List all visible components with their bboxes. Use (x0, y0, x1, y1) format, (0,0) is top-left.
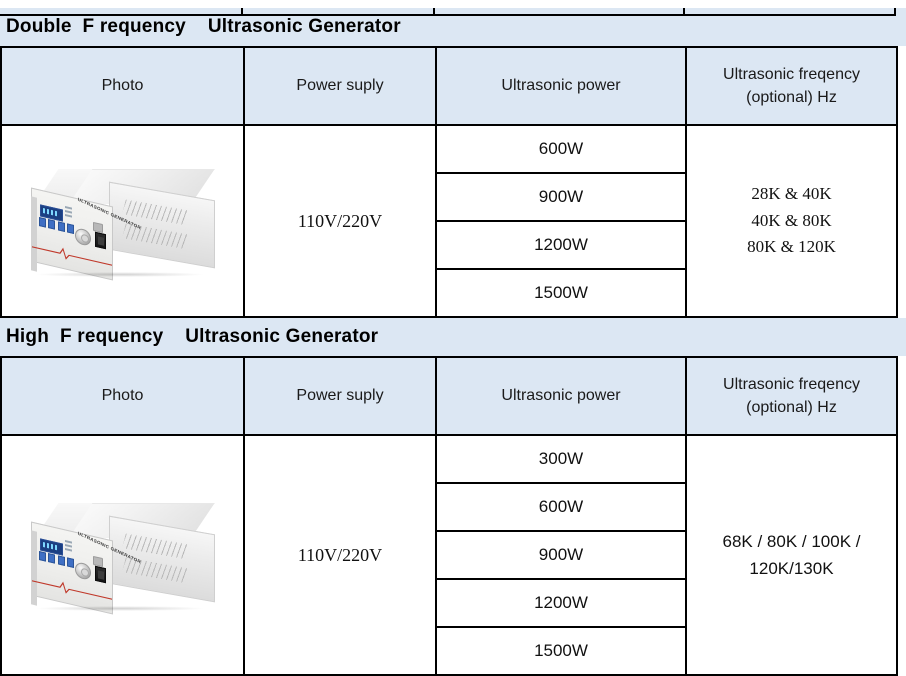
power-supply-value: 110V/220V (244, 435, 436, 675)
spec-table-double-frequency: Photo Power suply Ultrasonic power Ultra… (0, 46, 898, 318)
ultrasonic-power-value: 300W (436, 435, 686, 483)
header-power-supply: Power suply (244, 47, 436, 125)
device-side-face (109, 182, 215, 269)
device-side-face (109, 516, 215, 603)
frequency-line: 40K & 80K (687, 208, 896, 234)
device-front-bevel (31, 530, 37, 605)
ultrasonic-power-value: 600W (436, 125, 686, 173)
device-shadow (35, 272, 205, 277)
vent-grille-icon (122, 558, 188, 583)
header-ultrasonic-frequency: Ultrasonic freqency (optional) Hz (686, 47, 897, 125)
header-power-supply: Power suply (244, 357, 436, 435)
header-ultrasonic-frequency-line1: Ultrasonic freqency (723, 376, 860, 393)
vent-grille-icon (122, 224, 188, 249)
power-switch-icon (95, 566, 106, 584)
ultrasonic-power-value: 1200W (436, 221, 686, 269)
indicator-lamps-icon (65, 206, 74, 218)
product-photo-high-frequency: ULTRASONIC GENERATOR (2, 501, 243, 609)
table-row: ULTRASONIC GENERATOR (1, 435, 897, 483)
column-divider (894, 8, 896, 14)
column-divider (241, 8, 243, 14)
spec-table-high-frequency: Photo Power suply Ultrasonic power Ultra… (0, 356, 898, 676)
ultrasonic-power-value: 1200W (436, 579, 686, 627)
header-photo: Photo (1, 357, 244, 435)
device-front-bevel (31, 196, 37, 271)
header-ultrasonic-frequency-line2: (optional) Hz (746, 89, 837, 106)
device-shadow (35, 606, 205, 611)
frequency-line: 120K/130K (687, 555, 896, 582)
column-divider (433, 8, 435, 14)
header-ultrasonic-power: Ultrasonic power (436, 47, 686, 125)
product-photo-cell: ULTRASONIC GENERATOR (1, 435, 244, 675)
product-photo-cell: ULTRASONIC GENERATOR (1, 125, 244, 317)
header-ultrasonic-frequency-line2: (optional) Hz (746, 399, 837, 416)
ultrasonic-power-value: 600W (436, 483, 686, 531)
header-ultrasonic-frequency: Ultrasonic freqency (optional) Hz (686, 357, 897, 435)
frequency-line: 68K / 80K / 100K / (687, 528, 896, 555)
power-supply-value: 110V/220V (244, 125, 436, 317)
table-header-row: Photo Power suply Ultrasonic power Ultra… (1, 357, 897, 435)
frequency-line: 80K & 120K (687, 234, 896, 260)
ultrasonic-frequency-value: 28K & 40K 40K & 80K 80K & 120K (686, 125, 897, 317)
ultrasonic-power-value: 900W (436, 173, 686, 221)
header-ultrasonic-frequency-line1: Ultrasonic freqency (723, 66, 860, 83)
frequency-line: 28K & 40K (687, 181, 896, 207)
ultrasonic-power-value: 900W (436, 531, 686, 579)
table-header-row: Photo Power suply Ultrasonic power Ultra… (1, 47, 897, 125)
ultrasonic-power-value: 1500W (436, 269, 686, 317)
product-photo-double-frequency: ULTRASONIC GENERATOR (2, 167, 243, 275)
specification-page: Double F requency Ultrasonic Generator P… (0, 8, 906, 663)
section-title-high-frequency: High F requency Ultrasonic Generator (0, 318, 906, 356)
section-title-text: Double F requency Ultrasonic Generator (6, 16, 401, 38)
indicator-lamps-icon (65, 540, 74, 552)
table-row: ULTRASONIC GENERATOR (1, 125, 897, 173)
section-title-text: High F requency Ultrasonic Generator (6, 326, 378, 348)
ultrasonic-generator-illustration: ULTRASONIC GENERATOR (25, 501, 221, 609)
header-ultrasonic-power: Ultrasonic power (436, 357, 686, 435)
ultrasonic-frequency-value: 68K / 80K / 100K / 120K/130K (686, 435, 897, 675)
power-switch-icon (95, 232, 106, 250)
header-photo: Photo (1, 47, 244, 125)
ultrasonic-power-value: 1500W (436, 627, 686, 675)
ultrasonic-generator-illustration: ULTRASONIC GENERATOR (25, 167, 221, 275)
column-divider (683, 8, 685, 14)
cut-off-table-row-top (0, 8, 896, 16)
